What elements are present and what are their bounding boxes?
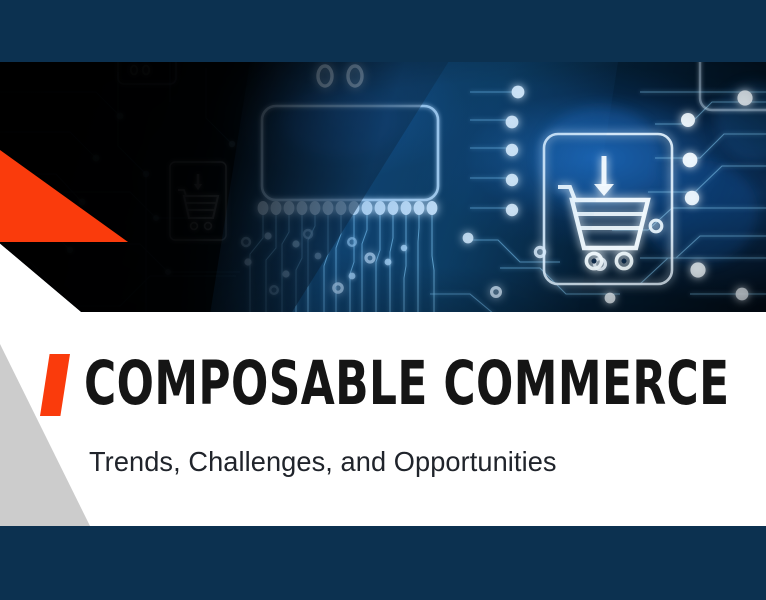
navy-band-bottom [0,526,766,600]
hero-vignette [0,62,766,314]
hero-image [0,62,766,314]
navy-band-top [0,0,766,62]
backslash-accent-icon [40,354,70,416]
page-subtitle: Trends, Challenges, and Opportunities [89,446,557,478]
title-row: COMPOSABLE COMMERCE [40,354,766,416]
title-block: COMPOSABLE COMMERCE Trends, Challenges, … [0,314,766,526]
page-title: COMPOSABLE COMMERCE [84,354,730,414]
slide-canvas: COMPOSABLE COMMERCE Trends, Challenges, … [0,0,766,600]
